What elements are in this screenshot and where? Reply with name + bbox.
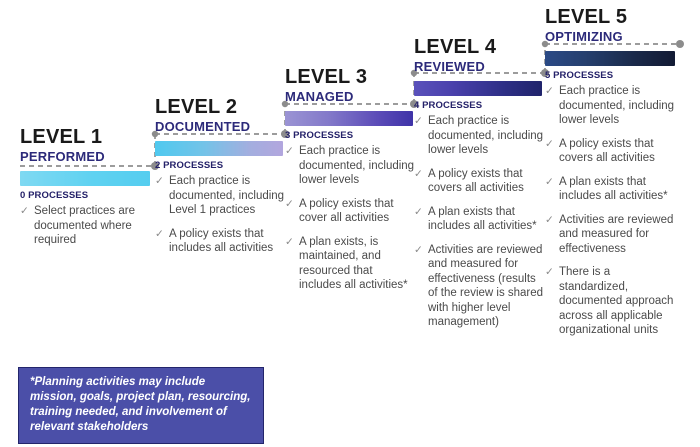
level-1-item-list: ✓Select practices are documented where r…	[20, 204, 150, 248]
level-3-subtitle: MANAGED	[285, 89, 415, 104]
level-5-title: LEVEL 5	[545, 6, 677, 28]
list-item: ✓Activities are reviewed and measured fo…	[545, 213, 677, 257]
level-2-title: LEVEL 2	[155, 96, 285, 118]
footnote-box: *Planning activities may include mission…	[18, 367, 264, 444]
level-5-subtitle: OPTIMIZING	[545, 29, 677, 44]
level-4-processes-count: 4 PROCESSES	[414, 100, 544, 112]
level-2-item-list: ✓Each practice is documented, including …	[155, 174, 285, 256]
list-item-text: There is a standardized, documented appr…	[559, 266, 673, 336]
level-1-column: LEVEL 1 PERFORMED 0 PROCESSES ✓Select pr…	[20, 126, 150, 257]
level-1-title: LEVEL 1	[20, 126, 150, 148]
level-4-subtitle: REVIEWED	[414, 59, 544, 74]
list-item: ✓A policy exists that covers all activit…	[414, 167, 544, 196]
list-item: ✓Each practice is documented, including …	[155, 174, 285, 218]
level-4-column: LEVEL 4 REVIEWED 4 PROCESSES ✓Each pract…	[414, 36, 544, 339]
list-item: ✓A plan exists that includes all activit…	[545, 175, 677, 204]
check-icon: ✓	[285, 144, 294, 159]
level-2-bar	[155, 141, 283, 156]
list-item: ✓Each practice is documented, including …	[285, 144, 415, 188]
list-item-text: Activities are reviewed and measured for…	[428, 244, 543, 329]
check-icon: ✓	[414, 205, 423, 220]
level-5-bar	[545, 51, 675, 66]
check-icon: ✓	[414, 243, 423, 258]
level-2-column: LEVEL 2 DOCUMENTED 2 PROCESSES ✓Each pra…	[155, 96, 285, 265]
list-item: ✓Each practice is documented, including …	[414, 114, 544, 158]
check-icon: ✓	[20, 204, 29, 219]
list-item-text: Each practice is documented, including l…	[428, 115, 543, 156]
level-4-title: LEVEL 4	[414, 36, 544, 58]
list-item-text: A plan exists that includes all activiti…	[559, 176, 668, 203]
check-icon: ✓	[285, 235, 294, 250]
check-icon: ✓	[545, 84, 554, 99]
check-icon: ✓	[545, 175, 554, 190]
level-3-item-list: ✓Each practice is documented, including …	[285, 144, 415, 293]
check-icon: ✓	[285, 197, 294, 212]
level-2-subtitle: DOCUMENTED	[155, 119, 285, 134]
list-item: ✓Select practices are documented where r…	[20, 204, 150, 248]
list-item: ✓A policy exists that includes all activ…	[155, 227, 285, 256]
level-3-bar	[285, 111, 413, 126]
level-5-column: LEVEL 5 OPTIMIZING 5 PROCESSES ✓Each pra…	[545, 6, 677, 347]
check-icon: ✓	[545, 213, 554, 228]
level-4-item-list: ✓Each practice is documented, including …	[414, 114, 544, 330]
check-icon: ✓	[414, 114, 423, 129]
level-3-processes-count: 3 PROCESSES	[285, 130, 415, 142]
list-item-text: Each practice is documented, including L…	[169, 175, 284, 216]
list-item-text: A policy exists that includes all activi…	[169, 228, 273, 255]
level-1-subtitle: PERFORMED	[20, 149, 150, 164]
list-item-text: A policy exists that covers all activiti…	[428, 168, 524, 195]
list-item: ✓A plan exists that includes all activit…	[414, 205, 544, 234]
list-item-text: Each practice is documented, including l…	[559, 85, 674, 126]
list-item: ✓There is a standardized, documented app…	[545, 265, 677, 338]
level-2-processes-count: 2 PROCESSES	[155, 160, 285, 172]
list-item: ✓A policy exists that cover all activiti…	[285, 197, 415, 226]
list-item: ✓Activities are reviewed and measured fo…	[414, 243, 544, 330]
list-item-text: A policy exists that covers all activiti…	[559, 138, 655, 165]
check-icon: ✓	[545, 137, 554, 152]
level-3-title: LEVEL 3	[285, 66, 415, 88]
list-item-text: A plan exists, is maintained, and resour…	[299, 236, 408, 292]
check-icon: ✓	[545, 265, 554, 280]
level-1-bar	[20, 171, 150, 186]
list-item: ✓A plan exists, is maintained, and resou…	[285, 235, 415, 293]
list-item-text: Each practice is documented, including l…	[299, 145, 414, 186]
maturity-level-diagram: LEVEL 1 PERFORMED 0 PROCESSES ✓Select pr…	[0, 0, 700, 447]
list-item: ✓A policy exists that covers all activit…	[545, 137, 677, 166]
list-item: ✓Each practice is documented, including …	[545, 84, 677, 128]
check-icon: ✓	[414, 167, 423, 182]
list-item-text: Activities are reviewed and measured for…	[559, 214, 673, 255]
level-3-column: LEVEL 3 MANAGED 3 PROCESSES ✓Each practi…	[285, 66, 415, 302]
list-item-text: A policy exists that cover all activitie…	[299, 198, 394, 225]
list-item-text: A plan exists that includes all activiti…	[428, 206, 537, 233]
list-item-text: Select practices are documented where re…	[34, 205, 135, 246]
check-icon: ✓	[155, 227, 164, 242]
level-4-bar	[414, 81, 542, 96]
check-icon: ✓	[155, 174, 164, 189]
level-5-processes-count: 5 PROCESSES	[545, 70, 677, 82]
level-1-processes-count: 0 PROCESSES	[20, 190, 150, 202]
level-5-item-list: ✓Each practice is documented, including …	[545, 84, 677, 338]
